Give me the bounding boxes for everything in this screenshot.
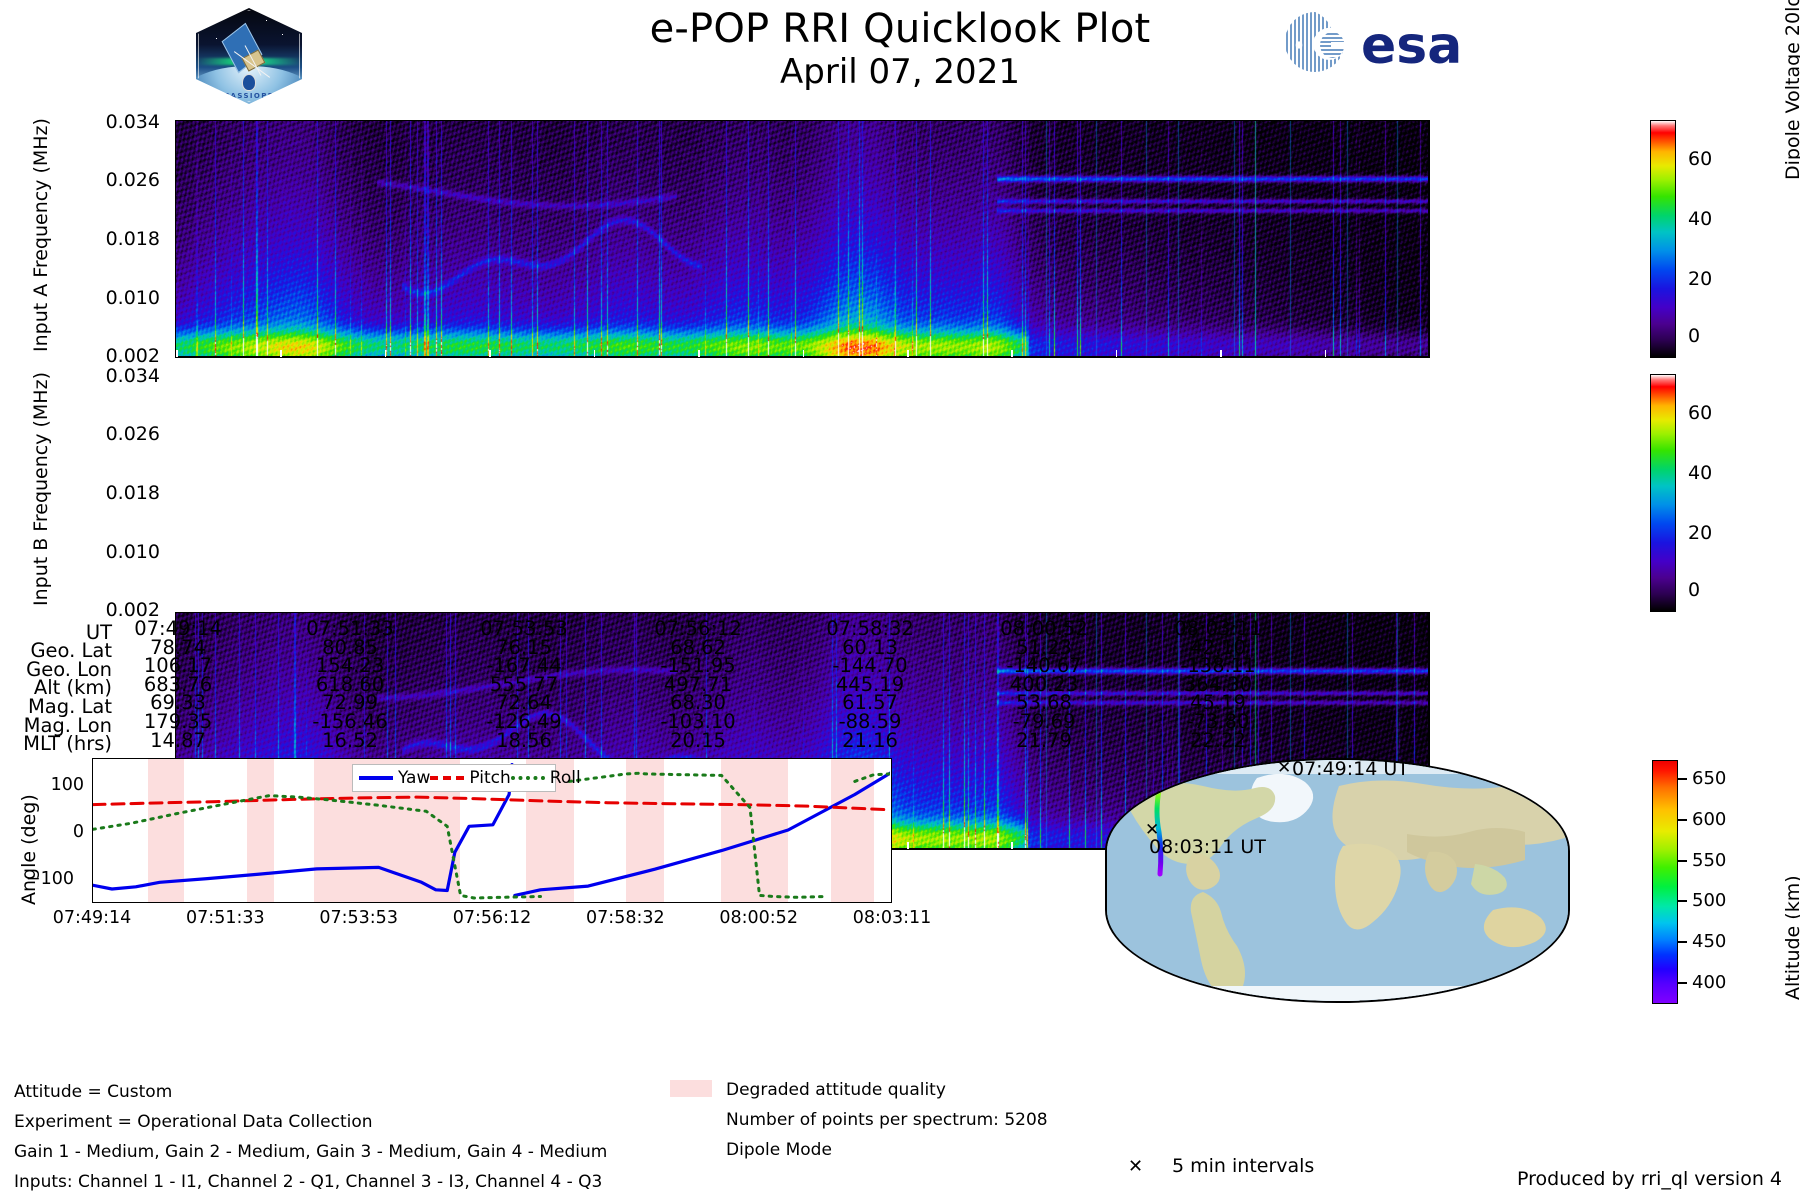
produced-by-footer: Produced by rri_ql version 4 (1517, 1168, 1782, 1190)
spec-a-ytick-3: 0.010 (72, 287, 160, 309)
axis-tick (803, 350, 805, 357)
cbar-a-tick-40: 40 (1688, 208, 1712, 230)
footer-gains: Gain 1 - Medium, Gain 2 - Medium, Gain 3… (14, 1142, 607, 1162)
footer-dipole-mode: Dipole Mode (726, 1140, 832, 1160)
legend-item-roll: Roll (511, 768, 581, 788)
legend-label-roll: Roll (550, 768, 581, 788)
colorbar-spectrogram-a (1650, 120, 1676, 358)
attitude-xtick: 07:56:12 (453, 908, 532, 928)
svg-text:esa: esa (1361, 16, 1462, 76)
attitude-xtick: 07:51:33 (186, 908, 265, 928)
attitude-xtick: 08:03:11 (853, 908, 932, 928)
ephemeris-row: UT07:49:1407:51:3307:53:5307:56:1207:58:… (0, 620, 1490, 639)
map-label-start: 07:49:14 UT (1292, 758, 1409, 780)
ephemeris-cell: 21.16 (842, 732, 898, 751)
axis-tick (1220, 350, 1222, 357)
legend-swatch-pitch (430, 776, 464, 780)
ephemeris-cell: 14.87 (150, 732, 206, 751)
ephemeris-row-label: MLT (hrs) (0, 735, 118, 754)
legend-item-pitch: Pitch (430, 768, 510, 788)
colorbar-spectrogram-b (1650, 374, 1676, 612)
interval-legend-label: 5 min intervals (1172, 1155, 1314, 1177)
attitude-xtick: 07:49:14 (53, 908, 132, 928)
axis-tick (1325, 350, 1327, 357)
altitude-tick: 550 (1692, 850, 1726, 871)
map-start-x-icon: ✕ (1277, 760, 1291, 777)
altitude-tick-mark (1678, 941, 1687, 943)
legend-item-yaw: Yaw (359, 768, 430, 788)
spec-b-ytick-2: 0.018 (72, 482, 160, 504)
spec-b-ytick-3: 0.010 (72, 541, 160, 563)
ephemeris-row: Geo. Lon106.17154.23-167.44-151.95-144.7… (0, 657, 1490, 676)
footer-attitude: Attitude = Custom (14, 1082, 172, 1102)
degraded-quality-label: Degraded attitude quality (726, 1080, 946, 1100)
cbar-b-tick-60: 60 (1688, 402, 1712, 424)
altitude-tick-mark (1678, 982, 1687, 984)
legend-label-pitch: Pitch (469, 768, 510, 788)
ephemeris-cell: 22.22 (1190, 732, 1246, 751)
ephemeris-cell: 20.15 (670, 732, 726, 751)
attitude-xtick: 07:58:32 (586, 908, 665, 928)
ephemeris-cell: 21.79 (1016, 732, 1072, 751)
cbar-b-tick-40: 40 (1688, 462, 1712, 484)
ephemeris-row: Alt (km)683.76618.60555.77497.71445.1940… (0, 676, 1490, 695)
map-label-end: 08:03:11 UT (1149, 836, 1266, 858)
axis-tick (594, 350, 596, 357)
altitude-tick: 600 (1692, 809, 1726, 830)
altitude-tick: 400 (1692, 972, 1726, 993)
ephemeris-row: Mag. Lat69.3372.9972.6468.3061.5753.6845… (0, 694, 1490, 713)
attitude-legend: Yaw Pitch Roll (352, 764, 556, 792)
footer-inputs: Inputs: Channel 1 - I1, Channel 2 - Q1, … (14, 1172, 602, 1192)
axis-tick (907, 350, 909, 357)
footer-experiment: Experiment = Operational Data Collection (14, 1112, 373, 1132)
legend-swatch-yaw (359, 776, 393, 780)
ephemeris-cell: 18.56 (496, 732, 552, 751)
attitude-series-pitch (93, 797, 890, 810)
cbar-a-tick-20: 20 (1688, 268, 1712, 290)
ephemeris-cell: 16.52 (322, 732, 378, 751)
altitude-tick: 650 (1692, 768, 1726, 789)
attitude-ytick-100: 100 (24, 775, 84, 795)
axis-tick (1429, 350, 1430, 357)
spec-b-ytick-0: 0.034 (72, 365, 160, 387)
axis-tick (1011, 350, 1013, 357)
cbar-b-tick-20: 20 (1688, 522, 1712, 544)
legend-swatch-roll (511, 776, 545, 780)
axis-tick (385, 350, 387, 357)
ephemeris-row: Mag. Lon179.35-156.46-126.49-103.10-88.5… (0, 713, 1490, 732)
spec-a-ytick-2: 0.018 (72, 228, 160, 250)
cbar-a-tick-60: 60 (1688, 148, 1712, 170)
colorbar-axis-label: Dipole Voltage 20log(μVBS) (1782, 0, 1800, 180)
cbar-a-tick-0: 0 (1688, 325, 1700, 347)
altitude-tick-mark (1678, 900, 1687, 902)
axis-tick (698, 350, 700, 357)
altitude-colorbar-label: Altitude (km) (1782, 875, 1800, 1000)
spec-a-ytick-1: 0.026 (72, 169, 160, 191)
altitude-tick: 500 (1692, 890, 1726, 911)
attitude-xtick: 07:53:53 (319, 908, 398, 928)
ephemeris-table: UT07:49:1407:51:3307:53:5307:56:1207:58:… (0, 620, 1490, 750)
axis-tick (176, 350, 178, 357)
colorbar-label-main: Dipole Voltage 20log(μV (1782, 0, 1800, 180)
attitude-ytick-neg100: −100 (14, 869, 74, 889)
spectrogram-a-ylabel: Input A Frequency (MHz) (30, 118, 52, 352)
axis-tick (280, 350, 282, 357)
track-marker-end: ✕ (1535, 768, 1549, 785)
ephemeris-row: Geo. Lat78.7480.8576.1568.6260.1351.2342… (0, 639, 1490, 658)
spec-a-ytick-4: 0.002 (72, 345, 160, 367)
ephemeris-row: MLT (hrs)14.8716.5218.5620.1521.1621.792… (0, 732, 1490, 751)
altitude-tick-mark (1678, 860, 1687, 862)
axis-tick (489, 350, 491, 357)
altitude-tick-mark (1678, 778, 1687, 780)
spec-a-ytick-0: 0.034 (72, 111, 160, 133)
altitude-colorbar (1652, 760, 1678, 1004)
spectrogram-input-a (175, 120, 1430, 358)
spec-b-ytick-1: 0.026 (72, 423, 160, 445)
esa-logo: esa (1275, 8, 1475, 78)
attitude-ytick-0: 0 (24, 822, 84, 842)
esa-logo-svg: esa (1275, 8, 1475, 78)
axis-tick (1116, 350, 1118, 357)
interval-legend-icon: ✕ (1128, 1158, 1143, 1176)
degraded-quality-swatch (670, 1080, 712, 1097)
spectrogram-b-ylabel: Input B Frequency (MHz) (30, 372, 52, 606)
altitude-tick-mark (1678, 819, 1687, 821)
satellite-ground-track (1107, 760, 1568, 1001)
attitude-xtick: 08:00:52 (719, 908, 798, 928)
track-marker-start: ✕ (1145, 782, 1159, 799)
cassiope-logo: CASSIOPE (196, 8, 302, 104)
altitude-tick: 450 (1692, 931, 1726, 952)
cbar-b-tick-0: 0 (1688, 579, 1700, 601)
footer-points-per-spectrum: Number of points per spectrum: 5208 (726, 1110, 1048, 1130)
axis-tick (1011, 842, 1013, 849)
legend-label-yaw: Yaw (398, 768, 430, 788)
ephemeris-cells: 14.8716.5218.5620.1521.1621.7922.22 (118, 732, 1490, 751)
ground-track-map: ✕ ✕ ✕ 08:03:11 UT 07:49:14 UT ✕ (1105, 758, 1570, 1003)
axis-tick (907, 842, 909, 849)
